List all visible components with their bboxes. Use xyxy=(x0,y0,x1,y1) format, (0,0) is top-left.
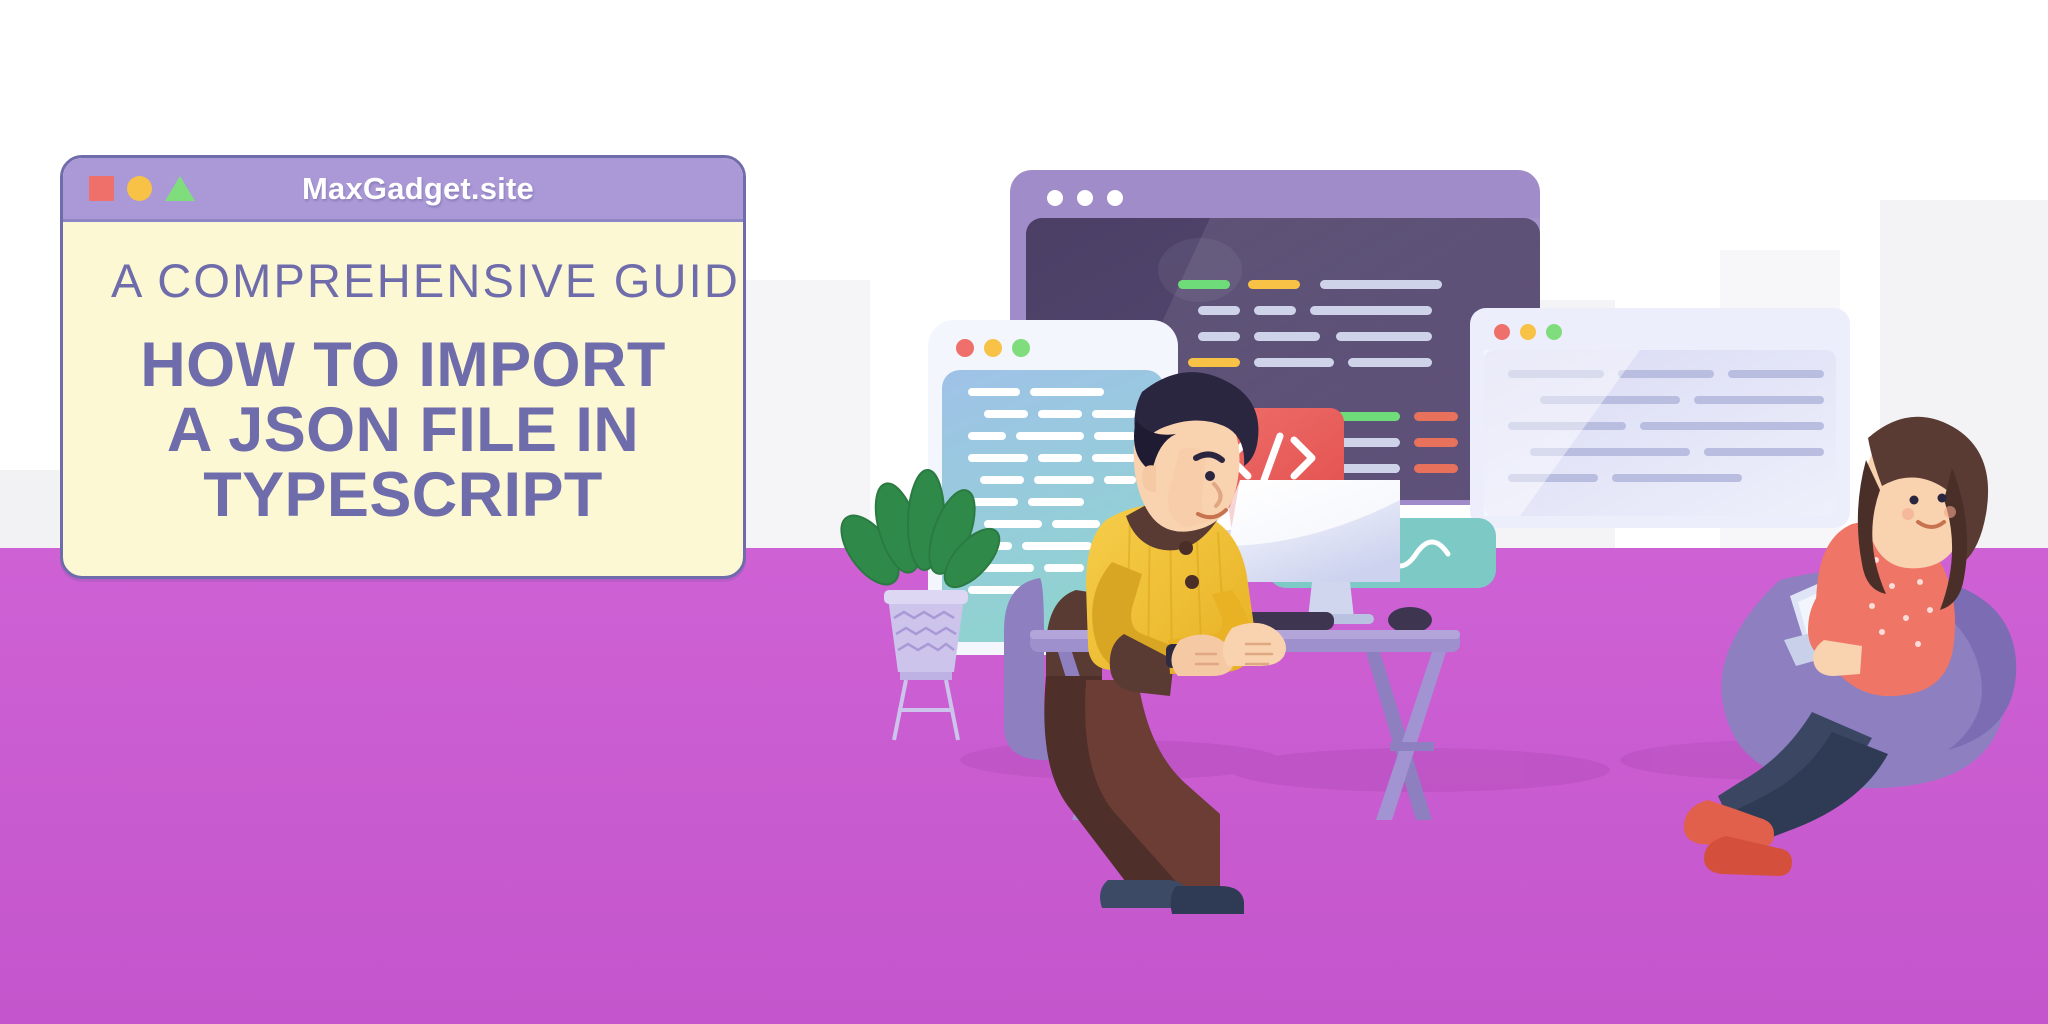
headline-line-1: HOW TO IMPORT xyxy=(111,333,695,398)
card-body: A COMPREHENSIVE GUIDE HOW TO IMPORT A JS… xyxy=(63,222,743,528)
document-window xyxy=(1470,308,1850,528)
headline-line-2: A JSON FILE IN xyxy=(111,398,695,463)
browser-titlebar: MaxGadget.site xyxy=(63,158,743,222)
illustration xyxy=(880,120,2048,820)
kicker-text: A COMPREHENSIVE GUIDE xyxy=(111,256,713,305)
site-title: MaxGadget.site xyxy=(63,158,743,219)
browser-card: MaxGadget.site A COMPREHENSIVE GUIDE HOW… xyxy=(60,155,746,579)
background-building xyxy=(740,280,870,550)
page-title: HOW TO IMPORT A JSON FILE IN TYPESCRIPT xyxy=(111,333,713,528)
banner-canvas: MaxGadget.site A COMPREHENSIVE GUIDE HOW… xyxy=(0,0,2048,1024)
headline-line-3: TYPESCRIPT xyxy=(111,463,695,528)
